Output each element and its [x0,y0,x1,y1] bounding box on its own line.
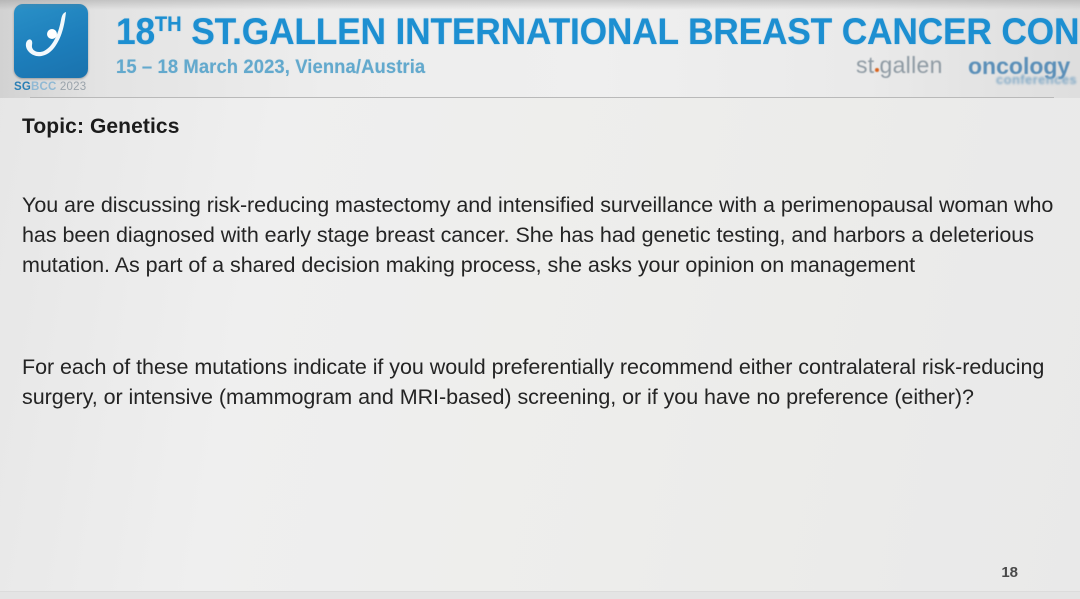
page-number: 18 [1001,564,1018,581]
logo-caption-bcc: BCC [31,81,57,93]
sgbcc-logo-caption: SGBCC 2023 [14,81,106,93]
conference-title-superscript: TH [155,13,182,36]
conference-title: 18TH ST.GALLEN INTERNATIONAL BREAST CANC… [116,4,1029,53]
organizer-logo-gallen: gallen [880,52,943,78]
organizer-logo-dot-icon [875,68,879,72]
slide-bottom-strip [0,591,1080,599]
organizer-logo-st-gallen: stgallen [856,52,943,79]
logo-caption-year: 2023 [57,81,87,93]
topic-heading: Topic: Genetics [22,115,179,139]
scenario-paragraph: You are discussing risk-reducing mastect… [22,190,1062,281]
slide-header: SGBCC 2023 18TH ST.GALLEN INTERNATIONAL … [0,0,1080,98]
conference-title-prefix: 18 [116,11,155,52]
conference-title-rest: ST.GALLEN INTERNATIONAL BREAST CANCER CO… [182,11,1080,52]
sgbcc-logo-block: SGBCC 2023 [14,4,106,93]
organizer-logo-conferences: conferences [996,72,1077,87]
header-divider [30,97,1054,98]
logo-caption-sg: SG [14,81,31,93]
organizer-logo: stgallen oncology conferences [856,52,1066,90]
presentation-slide: SGBCC 2023 18TH ST.GALLEN INTERNATIONAL … [0,0,1080,599]
sgbcc-breast-logo-icon [14,4,88,78]
organizer-logo-st: st [856,52,875,78]
question-paragraph: For each of these mutations indicate if … [22,352,1062,412]
